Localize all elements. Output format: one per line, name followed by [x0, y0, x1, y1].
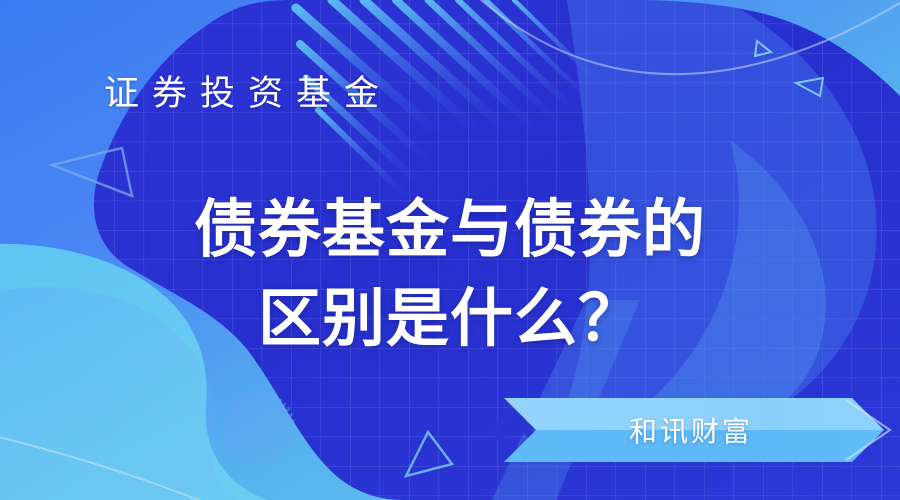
headline-line-2: 区别是什么？: [0, 275, 900, 364]
small-triangle-outline-left: [796, 78, 823, 96]
arc-line-bottom: [0, 430, 420, 500]
poster-subtitle: 证券投资基金: [104, 76, 392, 111]
triangle-outline-bottom: [406, 432, 452, 476]
headline-line-1: 债券基金与债券的: [0, 186, 900, 275]
small-triangle-outline-up: [755, 41, 771, 56]
arc-line-top: [470, 0, 900, 74]
striped-circle: [223, 391, 295, 463]
poster-headline: 债券基金与债券的 区别是什么？: [0, 186, 900, 365]
brand-ribbon-label: 和讯财富: [468, 396, 858, 464]
poster-canvas: 证券投资基金 债券基金与债券的 区别是什么？: [0, 0, 900, 500]
brand-ribbon: 和讯财富: [468, 396, 894, 464]
